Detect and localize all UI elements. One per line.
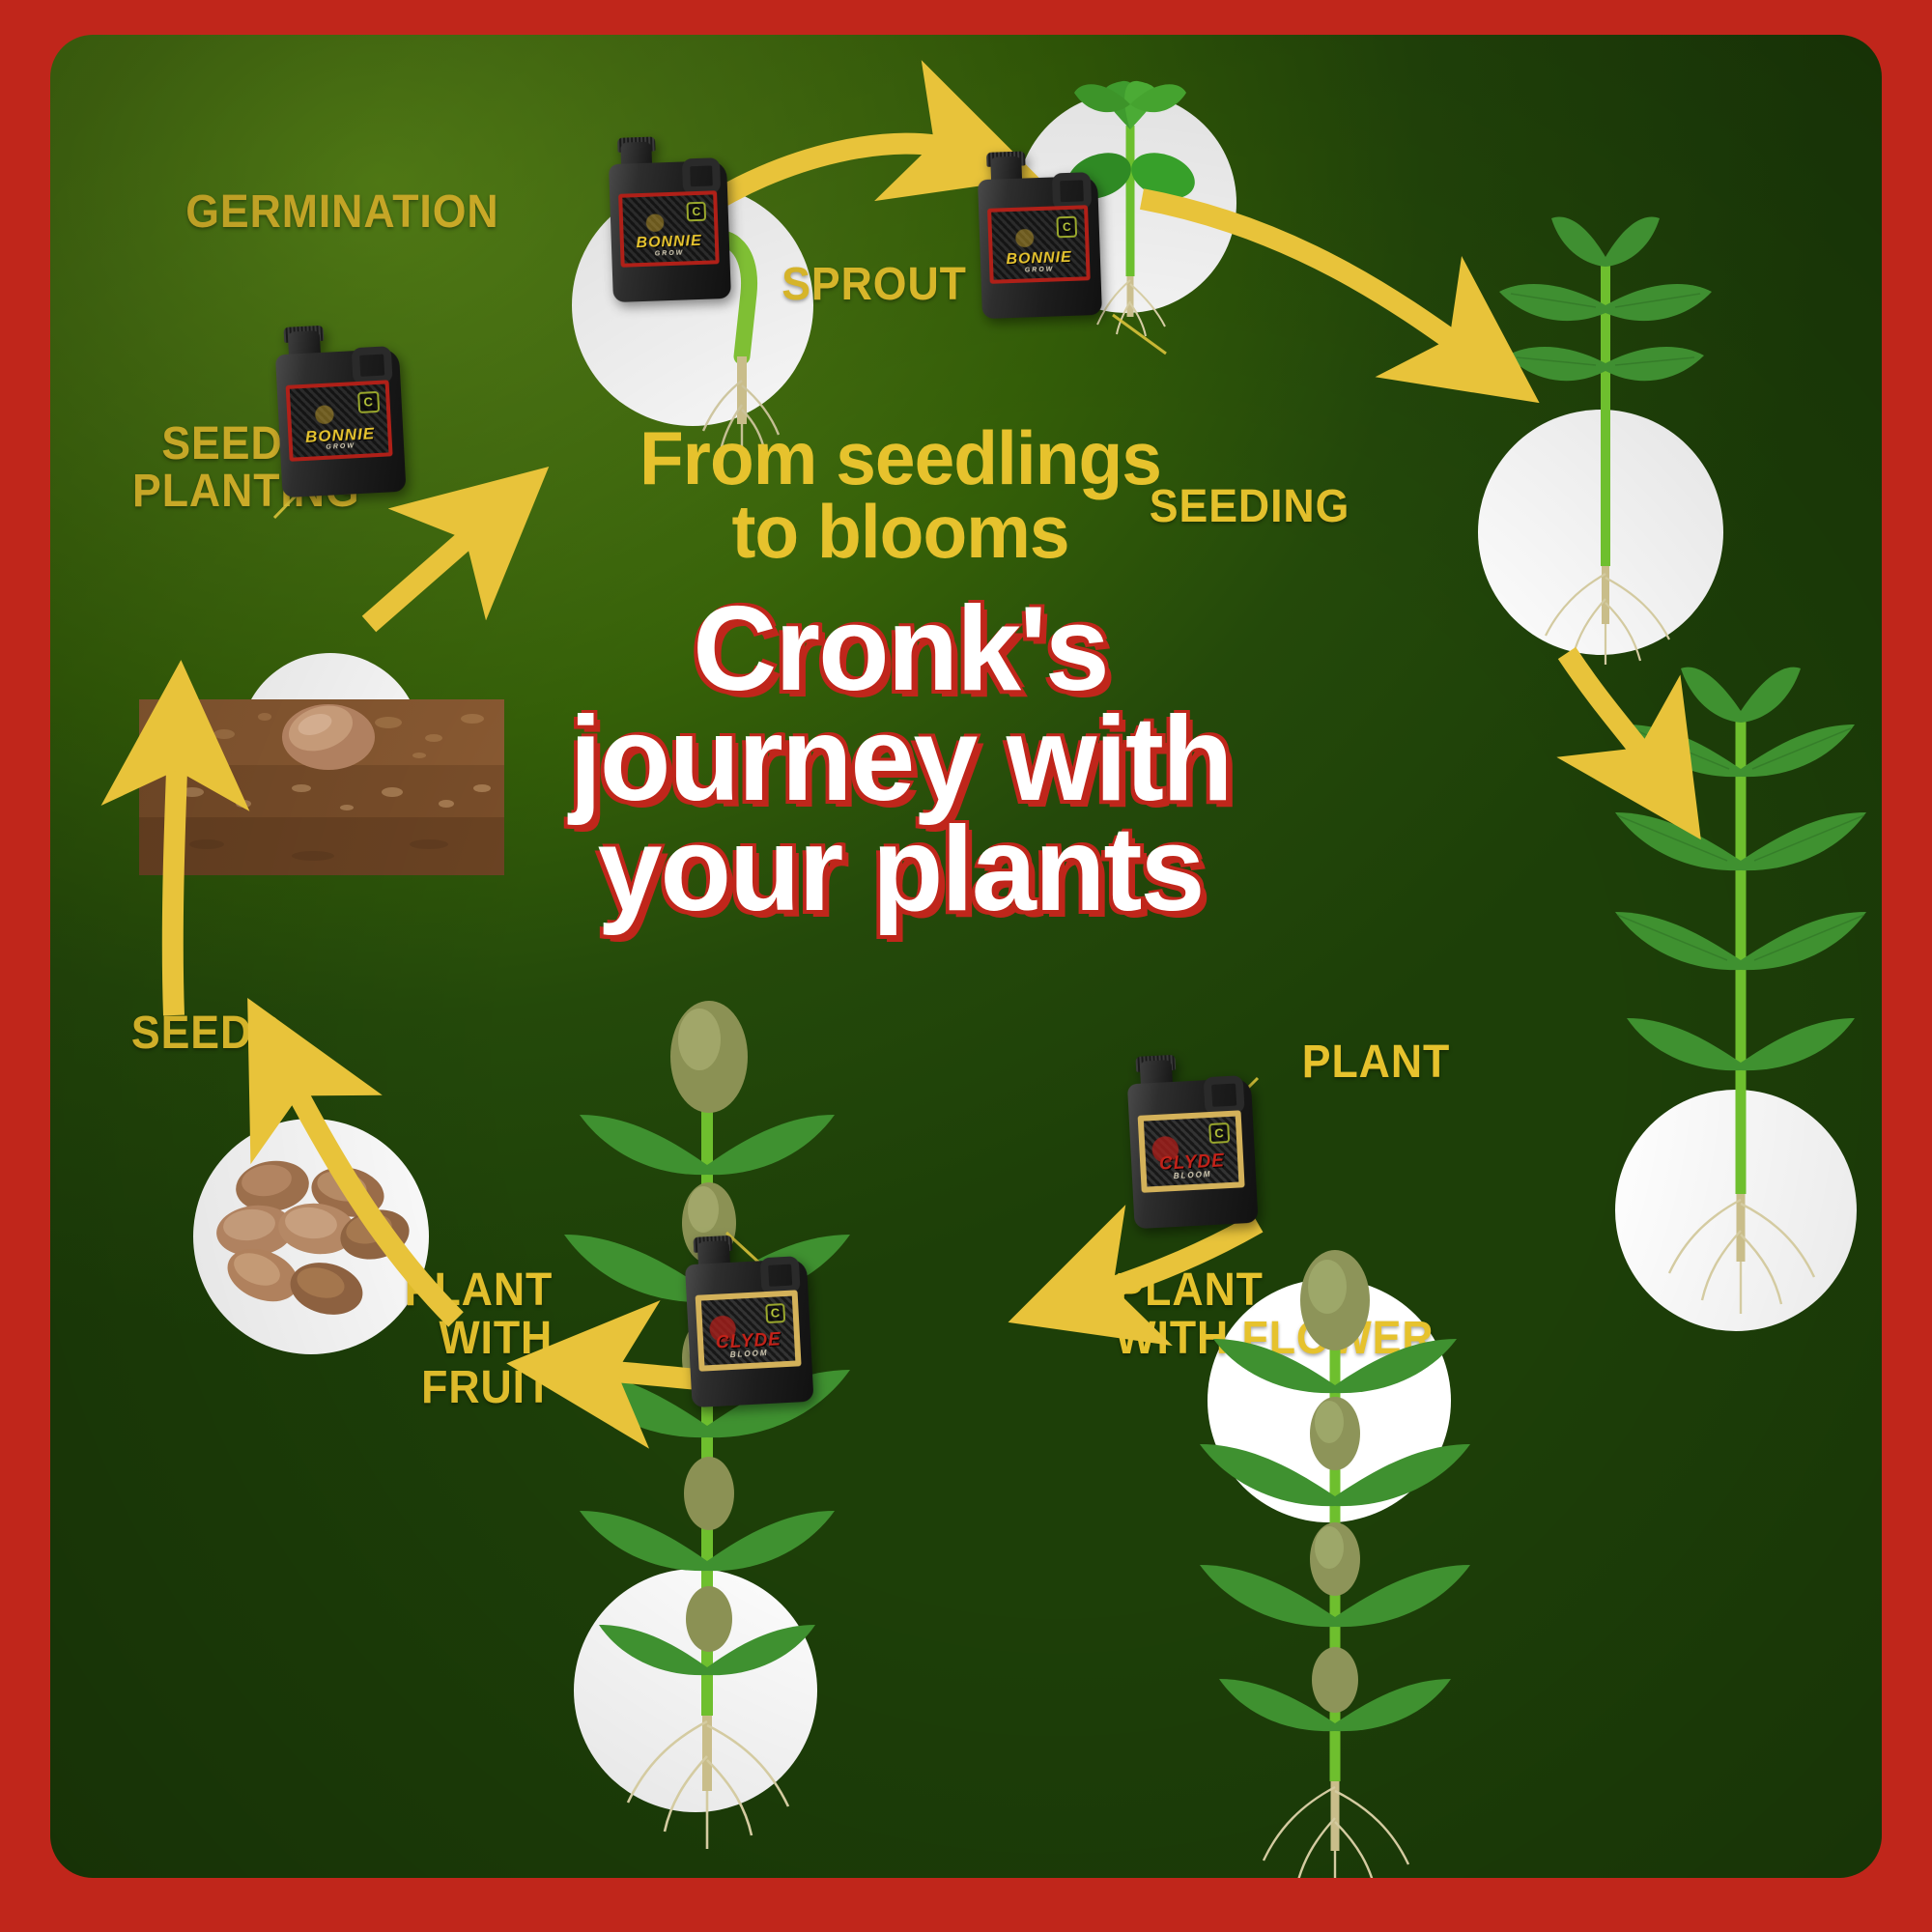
cronk-logo-icon: C [686,201,706,221]
bottle-brand-name: BONNIE [305,425,376,445]
bottle-bonnie-seeding[interactable]: C BONNIE GROW [977,149,1102,319]
bottle-variant: BLOOM [1174,1170,1212,1179]
cronk-logo-icon: C [1056,216,1077,238]
title-line-3: your plants [563,814,1237,924]
bottle-label: C BONNIE GROW [618,190,720,268]
bottle-brand-name: BONNIE [1006,250,1072,268]
cronk-logo-icon: C [1208,1122,1230,1144]
bottle-handle [352,346,393,385]
title-line-1: Cronk's [563,594,1237,704]
bottle-label: C CLYDE BLOOM [1138,1110,1246,1193]
green-panel: C BONNIE GROW C BONNIE GROW C BONNIE [50,35,1882,1878]
cronk-logo-icon: C [765,1303,786,1324]
arrow-planting-to-germination [369,523,485,624]
subtitle: From seedlings to blooms [566,421,1234,569]
step-label-plant: PLANT [1302,1039,1450,1087]
step-label-germination: GERMINATION [185,189,498,237]
title-line-2: journey with [563,704,1237,814]
plant-art [1557,653,1882,1349]
infographic-poster: C BONNIE GROW C BONNIE GROW C BONNIE [0,0,1932,1932]
bottle-brand-name: CLYDE [1158,1151,1225,1174]
bottle-label: C BONNIE GROW [286,380,394,462]
bottle-brand-name: BONNIE [636,234,702,251]
bottle-handle [1204,1075,1245,1115]
cronk-logo-icon: C [357,391,380,413]
bottle-handle [682,157,721,195]
bottle-clyde-fruit[interactable]: C CLYDE BLOOM [683,1232,813,1407]
subtitle-line-2: to blooms [566,495,1234,568]
planted-seed-icon [270,684,386,790]
bottle-variant: GROW [1025,266,1055,273]
bottle-variant: GROW [655,250,685,258]
seeding-plant-art [1451,199,1760,701]
bottle-bonnie-seed-planting[interactable]: C BONNIE GROW [273,322,406,497]
bottle-bonnie-sprout[interactable]: C BONNIE GROW [608,134,731,302]
main-title: Cronk's journey with your plants [563,594,1237,924]
bottle-label: C BONNIE GROW [987,206,1091,284]
center-text-block: From seedlings to blooms Cronk's journey… [553,421,1248,924]
bottle-clyde-flower[interactable]: C CLYDE BLOOM [1125,1051,1258,1229]
seeds-art [213,1148,415,1331]
bottle-variant: BLOOM [730,1350,769,1359]
subtitle-line-1: From seedlings [566,421,1234,495]
bottle-label: C CLYDE BLOOM [695,1290,801,1372]
bottle-variant: GROW [326,442,355,451]
plant-with-flower-art [1142,1240,1528,1878]
bottle-handle [1052,172,1092,210]
step-label-seeds: SEEDS [131,1010,282,1058]
plant-with-fruit-art [504,981,910,1878]
